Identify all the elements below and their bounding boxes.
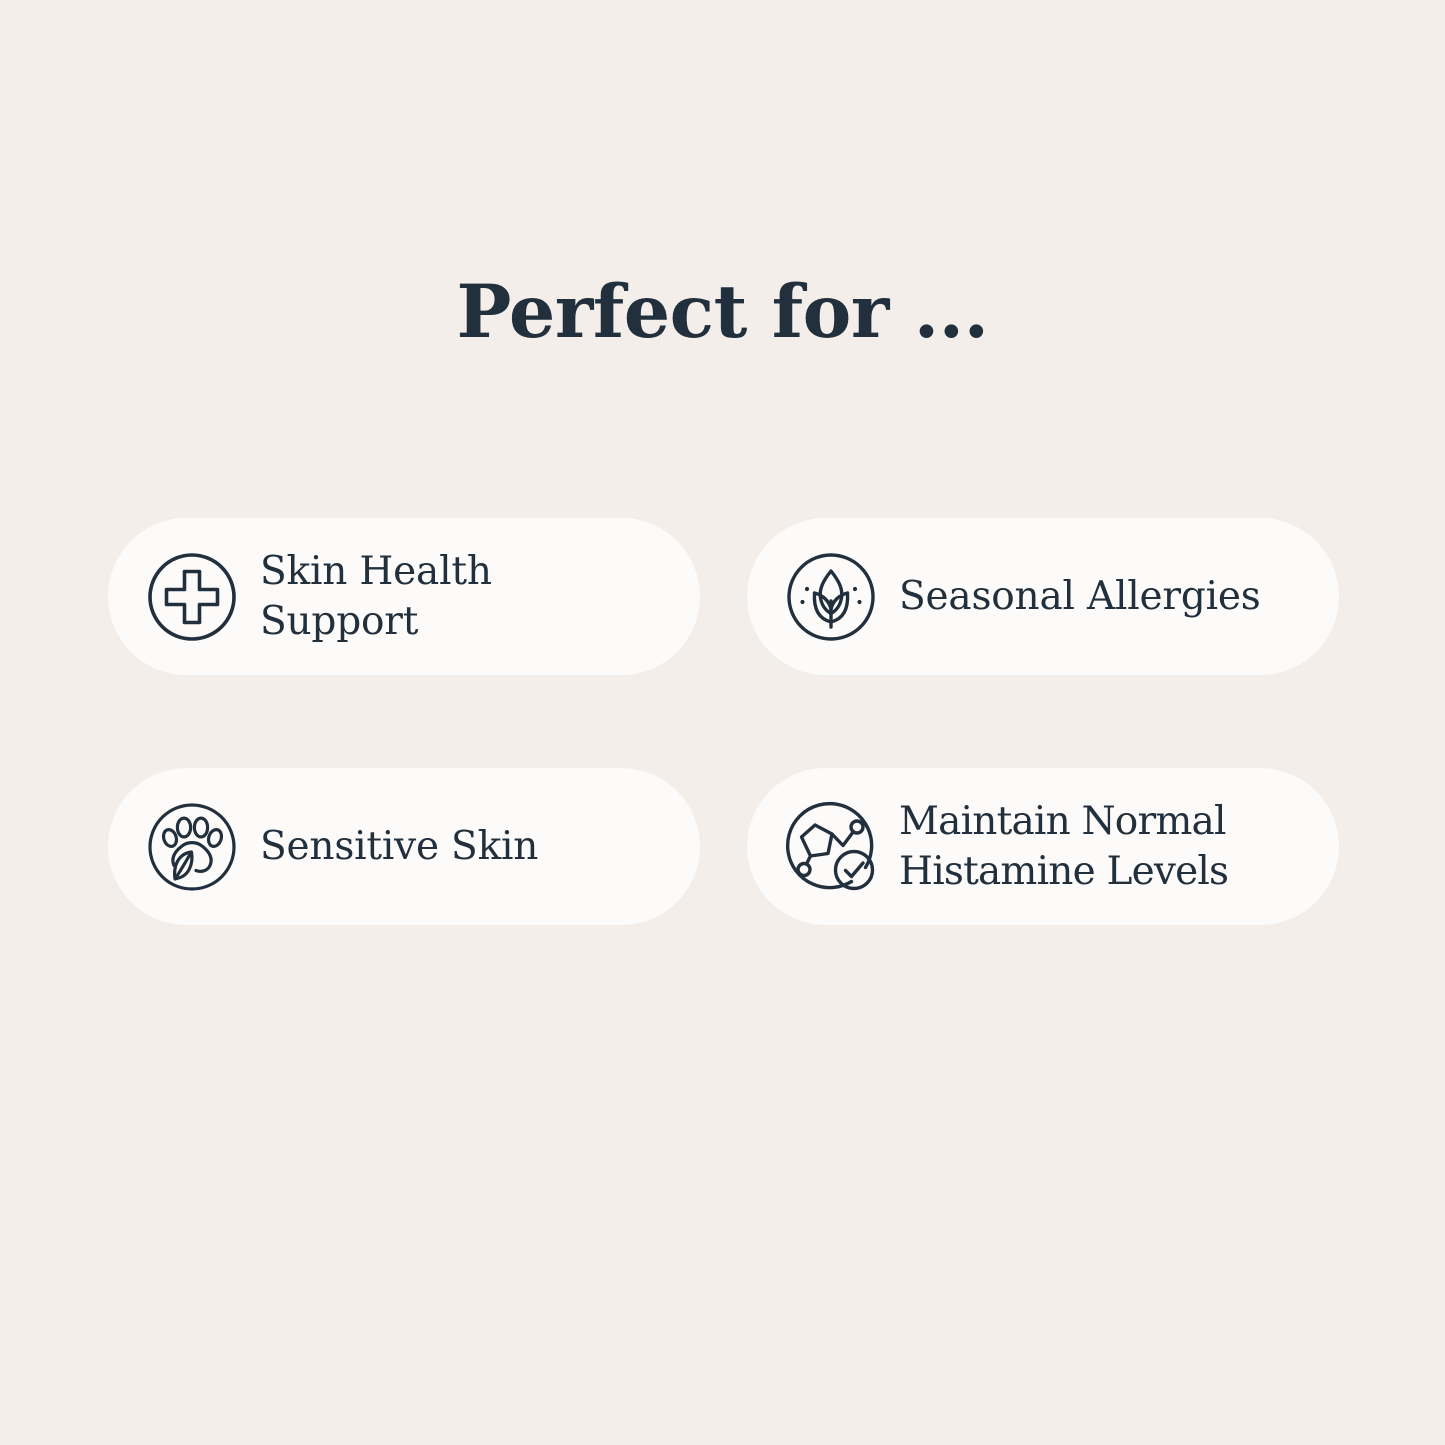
molecule-check-circle-icon [785,801,877,893]
benefit-card-seasonal-allergies[interactable]: Seasonal Allergies [747,518,1339,675]
benefit-label-line-1: Maintain Normal [899,799,1226,844]
perfect-for-benefits-graphic: Perfect for ... Skin Health Support [0,0,1445,1445]
benefit-card-skin-health-support[interactable]: Skin Health Support [108,518,700,675]
benefit-card-label: Maintain Normal Histamine Levels [899,797,1228,897]
benefits-card-grid: Skin Health Support [108,518,1339,925]
benefit-label-line-1: Seasonal Allergies [899,574,1261,619]
benefit-label-line-2: Support [260,599,418,644]
plus-circle-icon [146,551,238,643]
paw-leaf-circle-icon [146,801,238,893]
benefit-card-label: Seasonal Allergies [899,572,1261,622]
page-title: Perfect for ... [0,276,1445,349]
flower-pollen-circle-icon [785,551,877,643]
benefit-card-sensitive-skin[interactable]: Sensitive Skin [108,768,700,925]
benefit-card-label: Skin Health Support [260,547,492,647]
benefit-label-line-2: Histamine Levels [899,849,1228,894]
benefit-card-maintain-normal-histamine-levels[interactable]: Maintain Normal Histamine Levels [747,768,1339,925]
benefit-label-line-1: Sensitive Skin [260,824,538,869]
benefit-card-label: Sensitive Skin [260,822,538,872]
benefit-label-line-1: Skin Health [260,549,492,594]
